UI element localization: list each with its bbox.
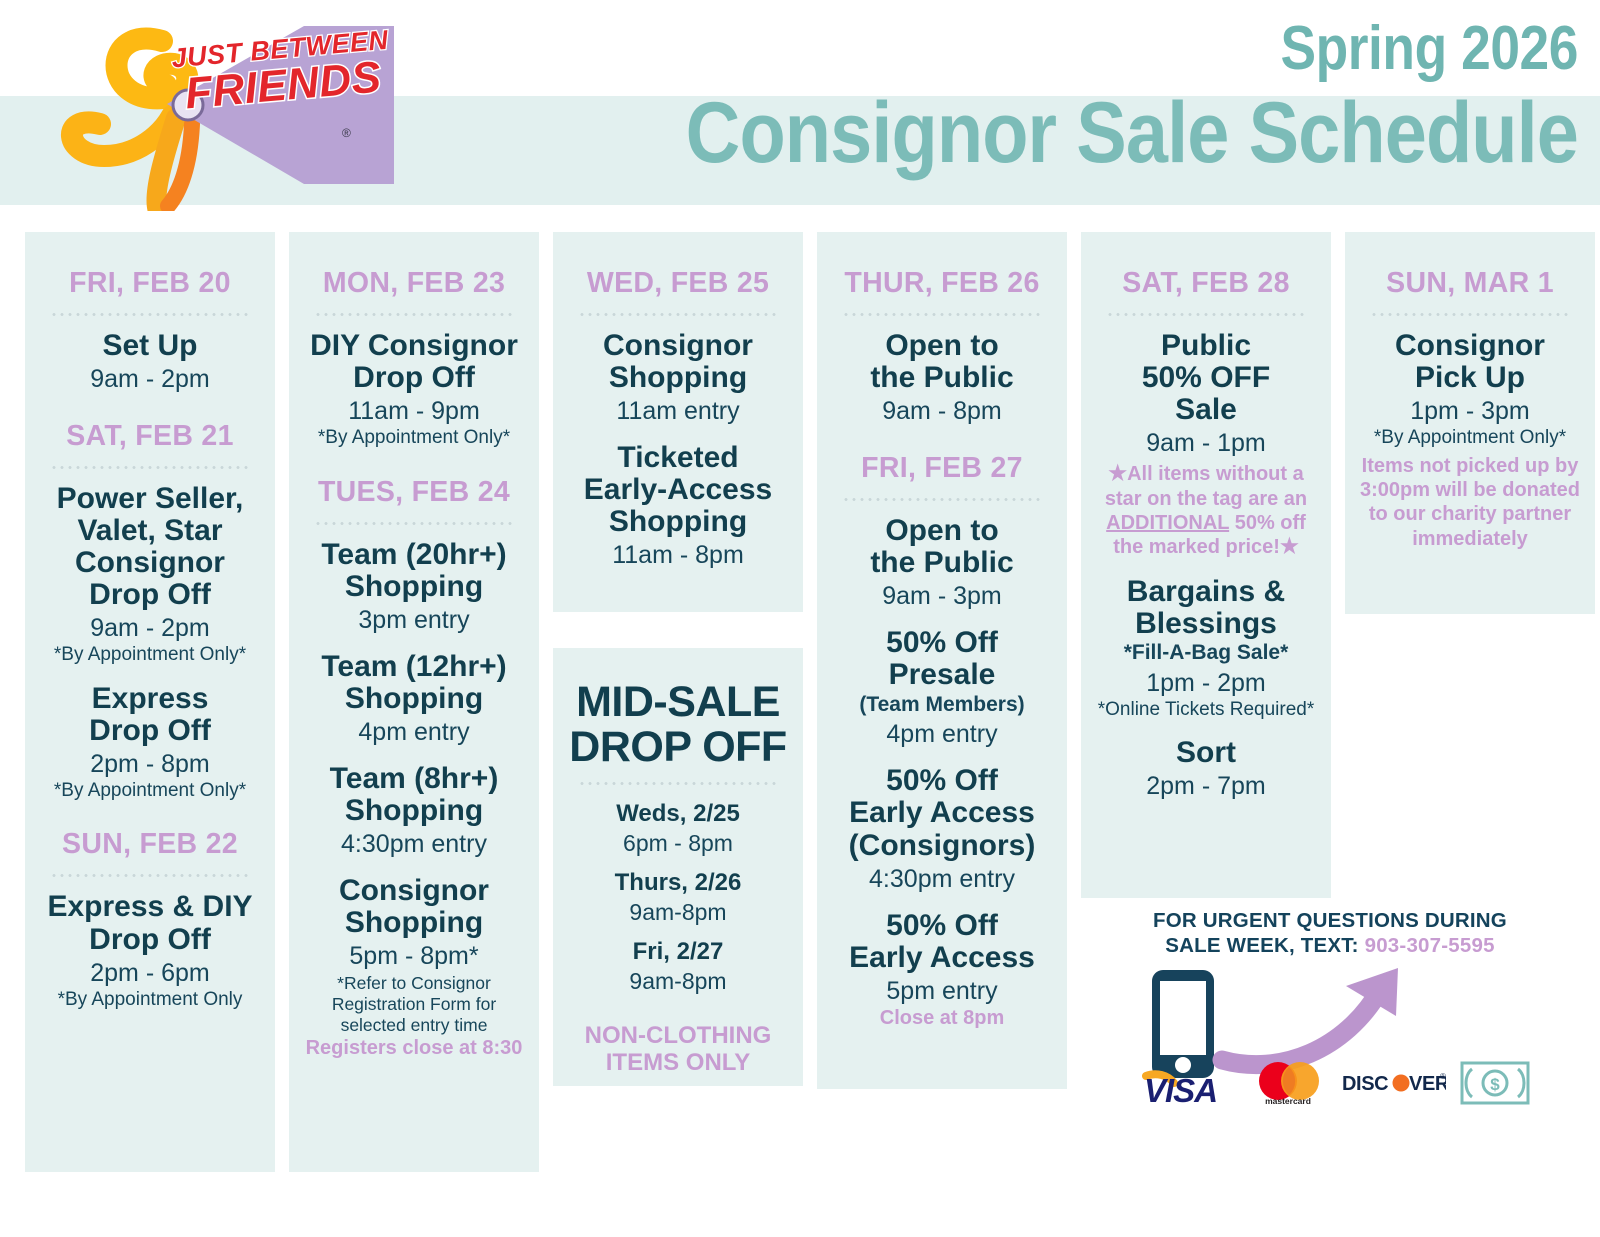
event-purple-paragraph: Items not picked up by 3:00pm will be do… xyxy=(1355,454,1585,552)
contact-text-label: SALE WEEK, TEXT: xyxy=(1165,934,1358,957)
event-1: ConsignorShopping11am entry xyxy=(563,330,793,426)
event-title: TicketedEarly-AccessShopping xyxy=(563,442,793,538)
midsale-footer: NON-CLOTHINGITEMS ONLY xyxy=(563,1022,793,1077)
star-icon: ★ xyxy=(1108,462,1127,485)
dotted-divider xyxy=(579,313,777,316)
event-time: 5pm entry xyxy=(827,976,1057,1006)
event-time: 3pm entry xyxy=(299,605,529,635)
event-time: 1pm - 3pm xyxy=(1355,396,1585,426)
event-time: 9am - 2pm xyxy=(35,364,265,394)
event-4: ConsignorShopping5pm - 8pm**Refer to Con… xyxy=(299,875,529,1061)
event-title: ExpressDrop Off xyxy=(35,683,265,747)
underlined-word: ADDITIONAL xyxy=(1106,512,1229,534)
event-time: 4:30pm entry xyxy=(827,864,1057,894)
dotted-divider xyxy=(51,874,249,877)
event-title: ConsignorShopping xyxy=(299,875,529,939)
event-1: ConsignorPick Up1pm - 3pm*By Appointment… xyxy=(1355,330,1585,551)
event-title: Sort xyxy=(1091,737,1321,769)
event-time: 11am entry xyxy=(563,396,793,426)
midsale-day: Weds, 2/25 xyxy=(563,799,793,829)
event-note: *By Appointment Only xyxy=(35,989,265,1011)
date-heading: SAT, FEB 28 xyxy=(1091,267,1321,300)
event-title: 50% OffEarly Access(Consignors) xyxy=(827,765,1057,861)
event-purple-note: Close at 8pm xyxy=(827,1007,1057,1031)
event-title: Team (20hr+)Shopping xyxy=(299,539,529,603)
date-heading: THUR, FEB 26 xyxy=(827,267,1057,300)
event-2: Team (12hr+)Shopping4pm entry xyxy=(299,651,529,747)
event-title: ConsignorPick Up xyxy=(1355,330,1585,394)
event-1: Open tothe Public9am - 3pm xyxy=(827,515,1057,611)
dotted-divider xyxy=(315,313,513,316)
midsale-title: MID-SALEDROP OFF xyxy=(563,680,793,769)
midsale-day: Fri, 2/27 xyxy=(563,937,793,967)
event-time: 2pm - 8pm xyxy=(35,749,265,779)
event-time: 9am - 2pm xyxy=(35,613,265,643)
midsale-time: 6pm - 8pm xyxy=(563,829,793,858)
midsale-row: Thurs, 2/269am-8pm xyxy=(563,868,793,927)
dotted-divider xyxy=(51,313,249,316)
event-note: *By Appointment Only* xyxy=(299,427,529,449)
event-note: *By Appointment Only* xyxy=(35,644,265,666)
event-note: *By Appointment Only* xyxy=(1355,427,1585,449)
curved-arrow-icon xyxy=(1222,968,1398,1065)
event-2: 50% OffPresale(Team Members)4pm entry xyxy=(827,627,1057,749)
event-title: ConsignorShopping xyxy=(563,330,793,394)
event-time: 2pm - 6pm xyxy=(35,958,265,988)
svg-text:VISA: VISA xyxy=(1144,1072,1217,1106)
event-title: Team (8hr+)Shopping xyxy=(299,763,529,827)
event-1: Open tothe Public9am - 8pm xyxy=(827,330,1057,426)
event-2: Bargains &Blessings*Fill-A-Bag Sale*1pm … xyxy=(1091,576,1321,721)
svg-text:mastercard: mastercard xyxy=(1265,1096,1311,1105)
dotted-divider xyxy=(579,782,777,785)
date-heading: SAT, FEB 21 xyxy=(35,420,265,453)
event-title: Team (12hr+)Shopping xyxy=(299,651,529,715)
event-1: DIY ConsignorDrop Off11am - 9pm*By Appoi… xyxy=(299,330,529,450)
schedule-card-col-5: SAT, FEB 28Public50% OFFSale9am - 1pm★Al… xyxy=(1081,232,1331,898)
event-1: Team (20hr+)Shopping3pm entry xyxy=(299,539,529,635)
event-note: *By Appointment Only* xyxy=(35,780,265,802)
midsale-drop-off-card: MID-SALEDROP OFFWeds, 2/256pm - 8pmThurs… xyxy=(553,648,803,1086)
star-icon: ★ xyxy=(1280,535,1299,558)
event-time: 11am - 8pm xyxy=(563,540,793,570)
schedule-card-col-4: THUR, FEB 26Open tothe Public9am - 8pmFR… xyxy=(817,232,1067,1089)
event-time: 11am - 9pm xyxy=(299,396,529,426)
dotted-divider xyxy=(843,498,1041,501)
date-heading: MON, FEB 23 xyxy=(299,267,529,300)
event-time: 9am - 1pm xyxy=(1091,428,1321,458)
event-note: *Online Tickets Required* xyxy=(1091,699,1321,721)
event-purple-note: Registers close at 8:30 xyxy=(299,1037,529,1061)
season-label: Spring 2026 xyxy=(546,18,1578,80)
midsale-row: Fri, 2/279am-8pm xyxy=(563,937,793,996)
date-heading: FRI, FEB 27 xyxy=(827,452,1057,485)
event-1: Public50% OFFSale9am - 1pm★All items wit… xyxy=(1091,330,1321,560)
event-time: 4pm entry xyxy=(299,717,529,747)
event-time: 2pm - 7pm xyxy=(1091,771,1321,801)
date-heading: SUN, MAR 1 xyxy=(1355,267,1585,300)
event-title: Open tothe Public xyxy=(827,330,1057,394)
svg-text:®: ® xyxy=(1440,1072,1446,1081)
event-3: Sort2pm - 7pm xyxy=(1091,737,1321,801)
event-time: 9am - 3pm xyxy=(827,581,1057,611)
svg-text:$: $ xyxy=(1490,1075,1500,1094)
event-subtitle: *Fill-A-Bag Sale* xyxy=(1091,641,1321,666)
event-time: 5pm - 8pm* xyxy=(299,941,529,971)
page-header: JUST BETWEEN FRIENDS ® Spring 2026 Consi… xyxy=(0,0,1600,205)
cash-icon: $ xyxy=(1460,1059,1530,1107)
schedule-card-col-6: SUN, MAR 1ConsignorPick Up1pm - 3pm*By A… xyxy=(1345,232,1595,614)
dotted-divider xyxy=(315,522,513,525)
logo-registered-mark: ® xyxy=(342,126,351,140)
payment-methods: VISA mastercard DISC VER ® $ xyxy=(1140,1052,1530,1114)
event-title: 50% OffEarly Access xyxy=(827,910,1057,974)
discover-logo: DISC VER ® xyxy=(1340,1066,1446,1100)
event-2: ExpressDrop Off2pm - 8pm*By Appointment … xyxy=(35,683,265,803)
event-subtitle: (Team Members) xyxy=(827,693,1057,718)
event-time: 4:30pm entry xyxy=(299,829,529,859)
event-1: Express & DIYDrop Off2pm - 6pm*By Appoin… xyxy=(35,891,265,1011)
event-1: Set Up9am - 2pm xyxy=(35,330,265,394)
dotted-divider xyxy=(1371,313,1569,316)
contact-line-1: FOR URGENT QUESTIONS DURING xyxy=(1130,908,1530,933)
event-title: Public50% OFFSale xyxy=(1091,330,1321,426)
event-time: 4pm entry xyxy=(827,719,1057,749)
svg-text:DISC: DISC xyxy=(1342,1073,1388,1095)
date-heading: SUN, FEB 22 xyxy=(35,828,265,861)
visa-logo: VISA xyxy=(1140,1060,1236,1106)
page-title: Consignor Sale Schedule xyxy=(522,88,1578,178)
event-1: Power Seller,Valet, StarConsignorDrop Of… xyxy=(35,483,265,667)
event-title: 50% OffPresale xyxy=(827,627,1057,691)
event-time: 9am - 8pm xyxy=(827,396,1057,426)
event-3: 50% OffEarly Access(Consignors)4:30pm en… xyxy=(827,765,1057,893)
event-2: TicketedEarly-AccessShopping11am - 8pm xyxy=(563,442,793,570)
event-3: Team (8hr+)Shopping4:30pm entry xyxy=(299,763,529,859)
event-fine-print: *Refer to ConsignorRegistration Form for… xyxy=(299,973,529,1036)
date-heading: FRI, FEB 20 xyxy=(35,267,265,300)
event-title: Set Up xyxy=(35,330,265,362)
date-heading: TUES, FEB 24 xyxy=(299,476,529,509)
dotted-divider xyxy=(1107,313,1305,316)
event-time: 1pm - 2pm xyxy=(1091,668,1321,698)
event-title: Express & DIYDrop Off xyxy=(35,891,265,955)
midsale-time: 9am-8pm xyxy=(563,898,793,927)
midsale-row: Weds, 2/256pm - 8pm xyxy=(563,799,793,858)
dotted-divider xyxy=(843,313,1041,316)
midsale-time: 9am-8pm xyxy=(563,967,793,996)
event-4: 50% OffEarly Access5pm entryClose at 8pm xyxy=(827,910,1057,1031)
contact-phone-number[interactable]: 903-307-5595 xyxy=(1365,934,1495,957)
date-heading: WED, FEB 25 xyxy=(563,267,793,300)
event-title: DIY ConsignorDrop Off xyxy=(299,330,529,394)
event-title: Open tothe Public xyxy=(827,515,1057,579)
event-title: Bargains &Blessings xyxy=(1091,576,1321,640)
event-purple-paragraph: ★All items without a star on the tag are… xyxy=(1091,462,1321,560)
schedule-card-col-2: MON, FEB 23DIY ConsignorDrop Off11am - 9… xyxy=(289,232,539,1172)
contact-line-2: SALE WEEK, TEXT: 903-307-5595 xyxy=(1130,933,1530,958)
event-title: Power Seller,Valet, StarConsignorDrop Of… xyxy=(35,483,265,611)
dotted-divider xyxy=(51,466,249,469)
schedule-card-col-1: FRI, FEB 20Set Up9am - 2pmSAT, FEB 21Pow… xyxy=(25,232,275,1172)
midsale-day: Thurs, 2/26 xyxy=(563,868,793,898)
schedule-card-col-3: WED, FEB 25ConsignorShopping11am entryTi… xyxy=(553,232,803,612)
header-titles: Spring 2026 Consignor Sale Schedule xyxy=(378,0,1578,178)
mastercard-logo: mastercard xyxy=(1250,1061,1326,1105)
